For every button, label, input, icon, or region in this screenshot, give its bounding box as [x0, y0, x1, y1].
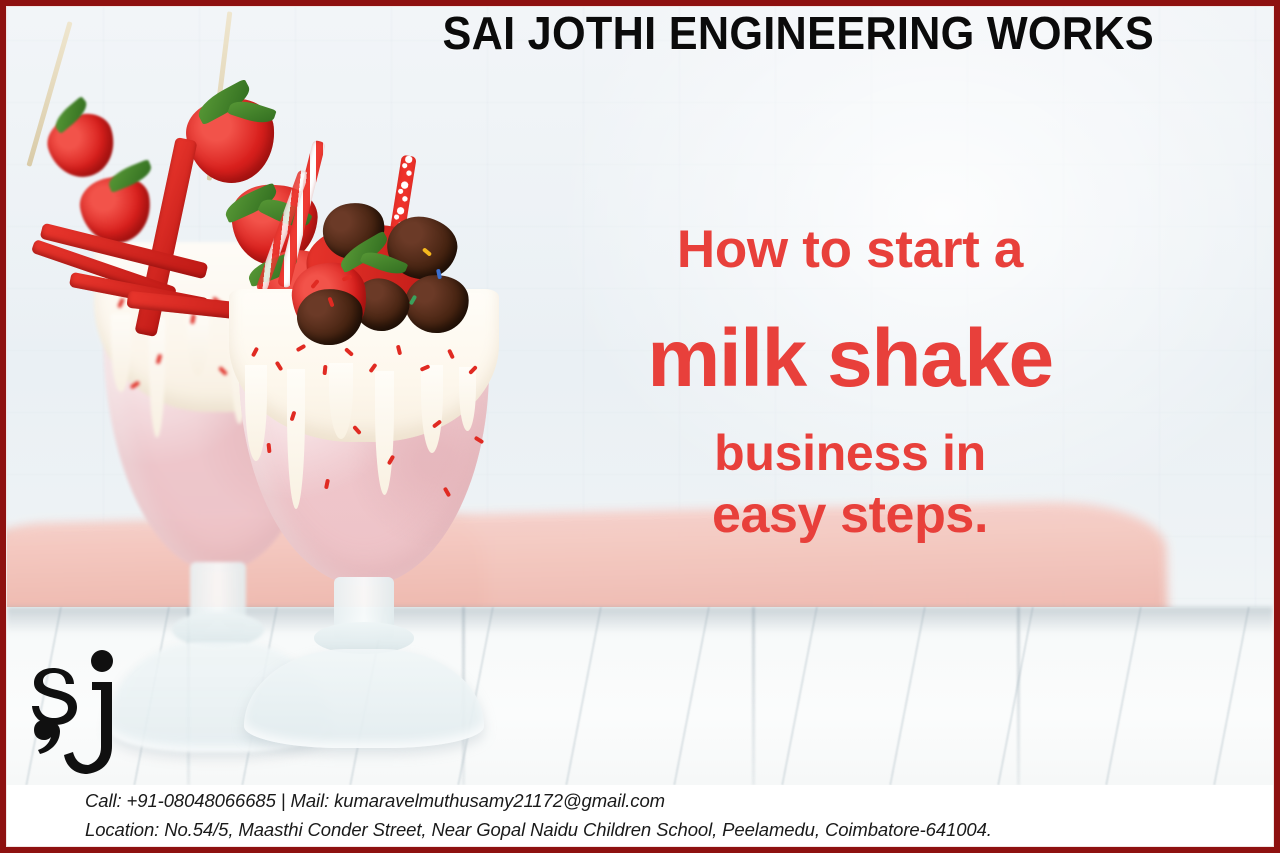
company-logo: [30, 648, 138, 776]
headline-block: How to start a milk shake business in ea…: [560, 222, 1140, 543]
headline-line-3: business in: [560, 427, 1140, 480]
header-bar: SAI JOTHI ENGINEERING WORKS: [0, 9, 1280, 58]
flyer-canvas: SAI JOTHI ENGINEERING WORKS How to start…: [0, 0, 1280, 853]
headline-line-4: easy steps.: [560, 488, 1140, 543]
headline-line-2: milk shake: [560, 317, 1140, 401]
milkshake-glass-front: [239, 307, 489, 757]
headline-line-1: How to start a: [560, 222, 1140, 277]
footer-contact-bar: Call: +91-08048066685 | Mail: kumaravelm…: [7, 785, 1273, 846]
footer-contact-line: Call: +91-08048066685 | Mail: kumaravelm…: [85, 787, 1273, 815]
company-title: SAI JOTHI ENGINEERING WORKS: [442, 9, 1185, 58]
footer-location-line: Location: No.54/5, Maasthi Conder Street…: [85, 816, 1273, 844]
glass-foot: [244, 649, 484, 748]
